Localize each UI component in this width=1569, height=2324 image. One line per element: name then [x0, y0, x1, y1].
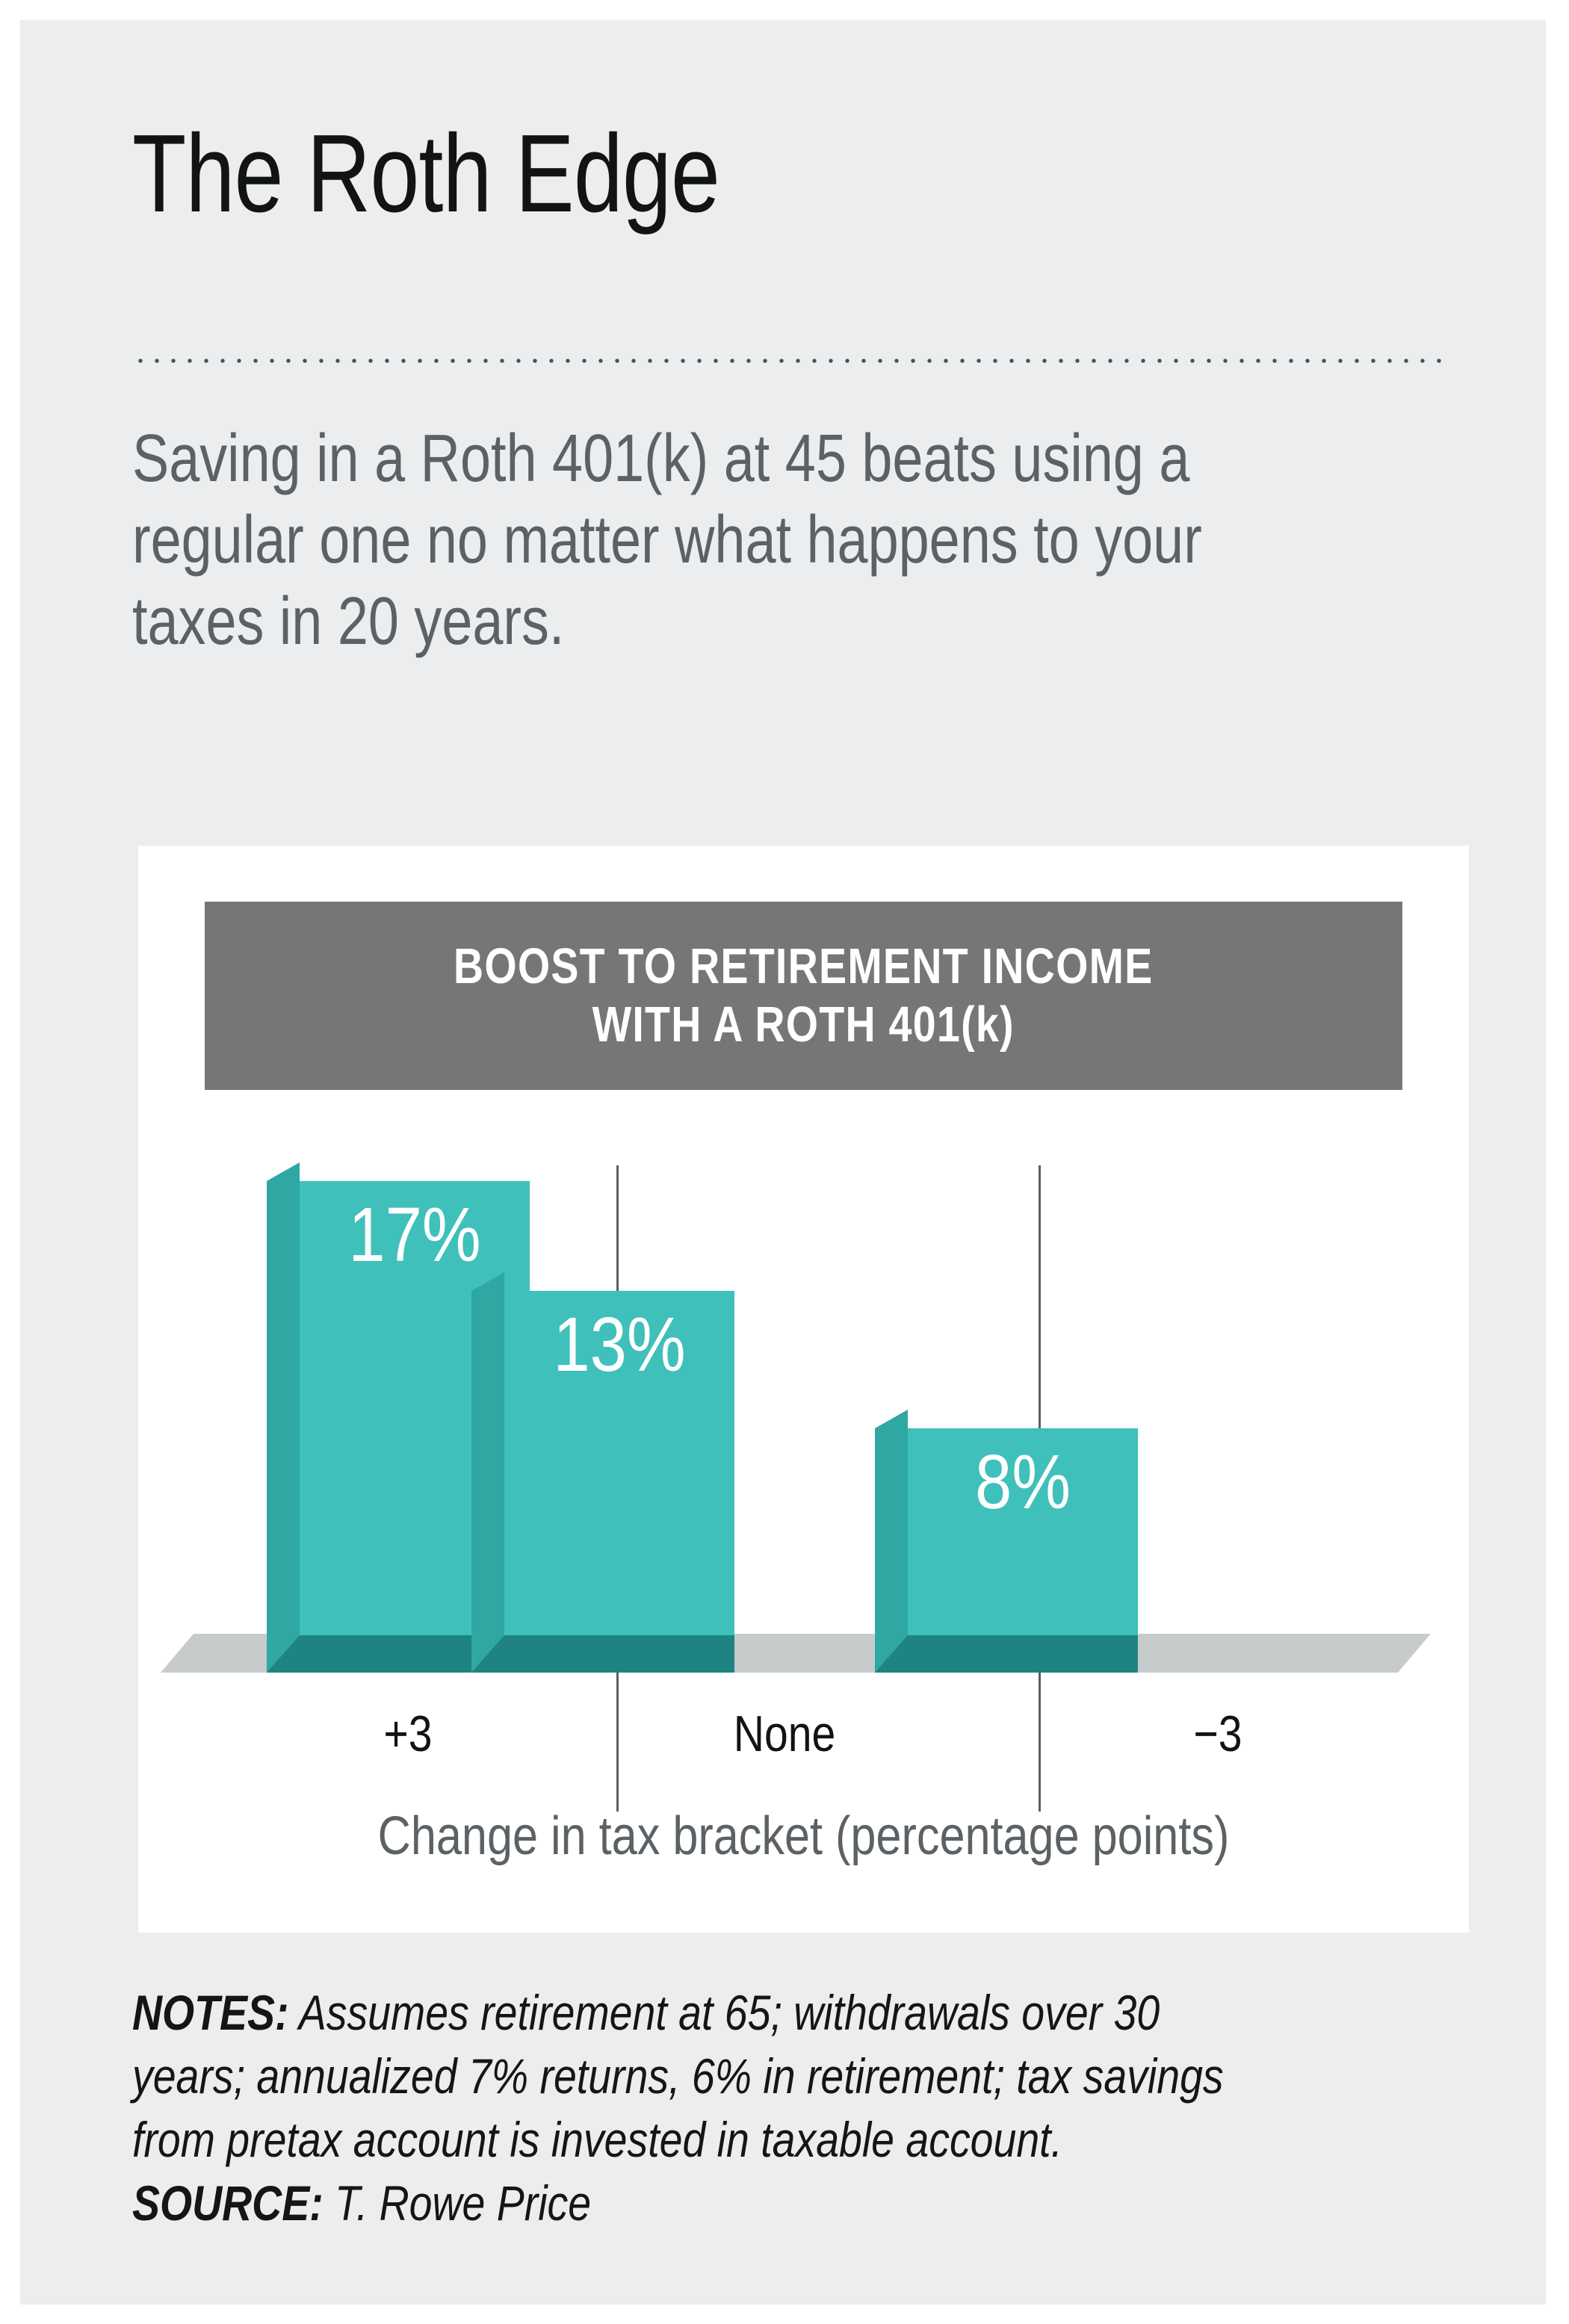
- bar-minus3-base: [875, 1635, 1138, 1673]
- bar-chart-plot: 17% 13% 8% +3 None −3 Change in tax brac…: [138, 846, 1469, 1933]
- bar-none-value: 13%: [521, 1301, 719, 1389]
- x-axis-title: Change in tax bracket (percentage points…: [238, 1806, 1370, 1867]
- notes-body: Assumes retirement at 65; withdrawals ov…: [132, 1985, 1224, 2167]
- source-label: SOURCE:: [132, 2175, 324, 2231]
- bar-none-side: [471, 1272, 504, 1673]
- page-title: The Roth Edge: [132, 119, 1184, 229]
- bar-minus3-side: [875, 1410, 908, 1673]
- subtitle-deck: Saving in a Roth 401(k) at 45 beats usin…: [132, 418, 1229, 663]
- chart-panel: BOOST TO RETIREMENT INCOME WITH A ROTH 4…: [138, 846, 1469, 1933]
- infographic-card: The Roth Edge Saving in a Roth 401(k) at…: [20, 20, 1546, 2305]
- category-label-plus3: +3: [304, 1705, 511, 1763]
- bar-plus3-value: 17%: [316, 1191, 514, 1279]
- bar-none: 13%: [504, 1272, 734, 1673]
- notes-label: NOTES:: [132, 1985, 288, 2040]
- bar-minus3: 8%: [908, 1410, 1138, 1673]
- source-body: T. Rowe Price: [324, 2175, 591, 2231]
- category-label-minus3: −3: [1114, 1705, 1321, 1763]
- bar-plus3-side: [267, 1162, 300, 1673]
- category-label-none: None: [681, 1705, 888, 1763]
- title-divider: [132, 358, 1447, 364]
- chart-notes: NOTES: Assumes retirement at 65; withdra…: [132, 1981, 1262, 2236]
- bar-none-base: [471, 1635, 734, 1673]
- bar-minus3-value: 8%: [924, 1438, 1122, 1526]
